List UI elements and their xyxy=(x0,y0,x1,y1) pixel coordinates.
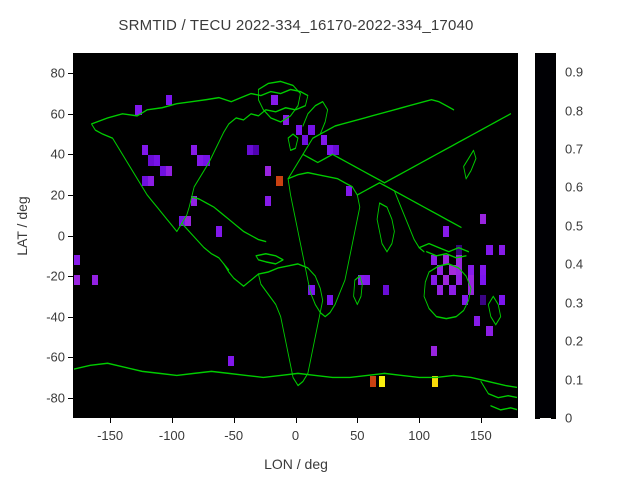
x-tick-label: -100 xyxy=(159,428,185,443)
colorbar-tick xyxy=(551,149,556,150)
x-tick-label: 0 xyxy=(292,428,299,443)
y-tick xyxy=(68,154,73,155)
y-tick-label: 80 xyxy=(25,66,65,81)
colorbar-tick xyxy=(535,111,540,112)
colorbar-tick xyxy=(535,149,540,150)
colorbar-tick xyxy=(535,187,540,188)
y-axis-title: LAT / deg xyxy=(14,126,30,326)
figure-root: SRMTID / TECU 2022-334_16170-2022-334_17… xyxy=(0,0,640,480)
colorbar-tick xyxy=(551,303,556,304)
colorbar-tick-label: 0.4 xyxy=(565,257,583,272)
colorbar-tick xyxy=(551,380,556,381)
x-tick xyxy=(234,418,235,423)
y-tick-label: 0 xyxy=(25,228,65,243)
colorbar-tick-label: 0.2 xyxy=(565,334,583,349)
colorbar-tick xyxy=(551,264,556,265)
colorbar-tick xyxy=(551,418,556,419)
y-tick-label: -60 xyxy=(25,350,65,365)
colorbar-tick-label: 0.8 xyxy=(565,103,583,118)
colorbar-tick-label: 0.7 xyxy=(565,142,583,157)
colorbar-tick xyxy=(535,226,540,227)
colorbar-tick xyxy=(551,187,556,188)
colorbar-tick-label: 0.9 xyxy=(565,65,583,80)
y-tick xyxy=(68,398,73,399)
colorbar-tick xyxy=(551,111,556,112)
colorbar-gradient xyxy=(536,54,555,417)
colorbar-tick xyxy=(535,303,540,304)
x-tick xyxy=(296,418,297,423)
colorbar-tick-label: 0.5 xyxy=(565,218,583,233)
colorbar-tick xyxy=(551,72,556,73)
y-tick-label: 40 xyxy=(25,147,65,162)
colorbar-tick xyxy=(535,380,540,381)
x-axis-title: LON / deg xyxy=(0,456,592,472)
x-tick-label: -150 xyxy=(97,428,123,443)
colorbar-tick-label: 0 xyxy=(565,411,572,426)
x-tick-label: 150 xyxy=(470,428,492,443)
x-tick-label: 50 xyxy=(350,428,364,443)
x-tick xyxy=(110,418,111,423)
y-tick-label: 20 xyxy=(25,187,65,202)
y-tick xyxy=(68,236,73,237)
x-tick xyxy=(481,418,482,423)
colorbar-tick xyxy=(551,341,556,342)
coastline-layer xyxy=(73,53,518,418)
colorbar-tick xyxy=(535,341,540,342)
colorbar-tick xyxy=(551,226,556,227)
x-tick-label: -50 xyxy=(224,428,243,443)
y-tick xyxy=(68,114,73,115)
y-tick xyxy=(68,357,73,358)
y-tick-label: -80 xyxy=(25,390,65,405)
colorbar-tick-label: 0.3 xyxy=(565,295,583,310)
chart-title: SRMTID / TECU 2022-334_16170-2022-334_17… xyxy=(0,17,592,34)
y-tick-label: -20 xyxy=(25,269,65,284)
colorbar-tick-label: 0.1 xyxy=(565,372,583,387)
colorbar-tick-label: 0.6 xyxy=(565,180,583,195)
map-plot-area xyxy=(73,53,518,418)
colorbar-tick xyxy=(535,264,540,265)
y-tick xyxy=(68,195,73,196)
colorbar-tick xyxy=(535,72,540,73)
y-tick xyxy=(68,276,73,277)
x-tick xyxy=(419,418,420,423)
x-tick xyxy=(357,418,358,423)
y-tick-label: 60 xyxy=(25,106,65,121)
x-tick xyxy=(172,418,173,423)
y-tick xyxy=(68,73,73,74)
x-tick-label: 100 xyxy=(408,428,430,443)
colorbar-tick xyxy=(535,418,540,419)
y-tick-label: -40 xyxy=(25,309,65,324)
y-tick xyxy=(68,317,73,318)
colorbar xyxy=(535,53,556,418)
